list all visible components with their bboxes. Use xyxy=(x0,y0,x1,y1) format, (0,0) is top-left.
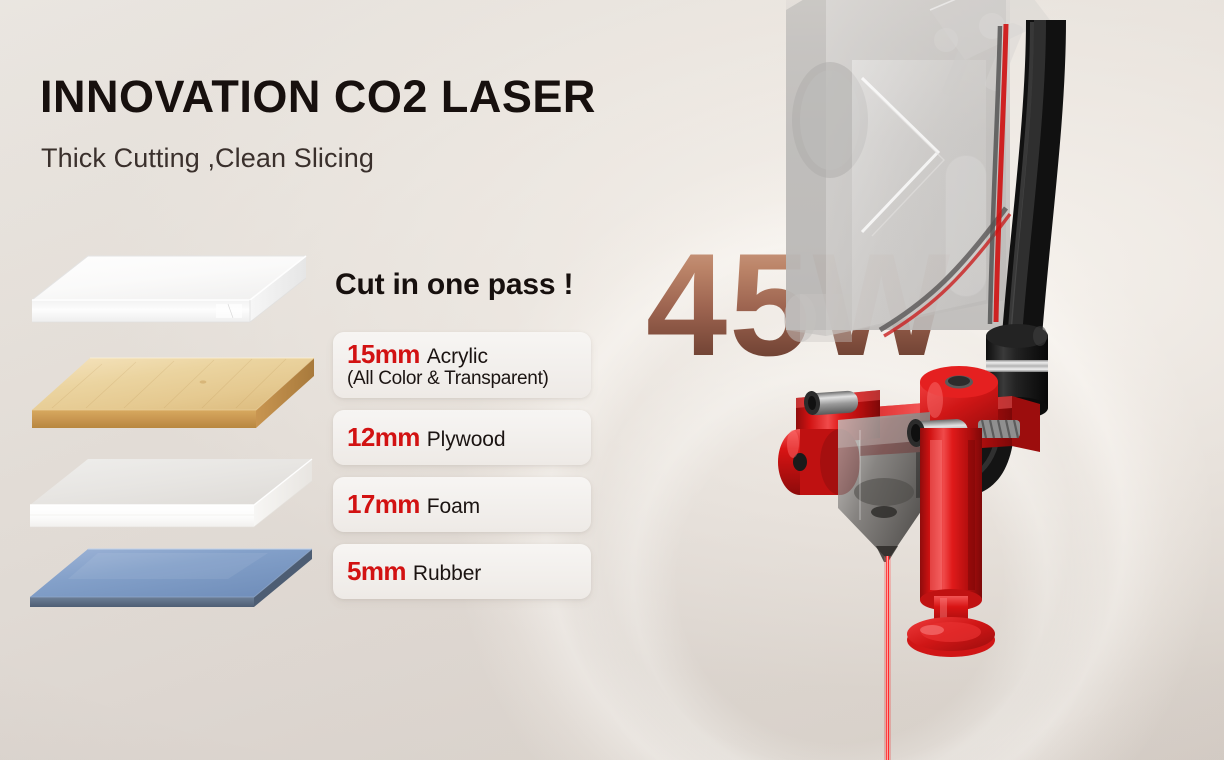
specs-heading: Cut in one pass ! xyxy=(335,268,573,302)
spec-material: Foam xyxy=(427,495,480,518)
spec-card-acrylic[interactable]: 15mmAcrylic (All Color & Transparent) xyxy=(333,332,591,398)
spec-note: (All Color & Transparent) xyxy=(347,368,577,389)
product-banner: 45W xyxy=(0,0,1224,760)
spec-material: Acrylic xyxy=(427,345,488,368)
spec-material: Plywood xyxy=(427,428,506,451)
spec-thickness: 12mm xyxy=(347,422,420,452)
spec-card-foam[interactable]: 17mmFoam xyxy=(333,477,591,532)
spec-thickness: 5mm xyxy=(347,556,406,586)
spec-card-list: 15mmAcrylic (All Color & Transparent) 12… xyxy=(333,332,591,611)
spec-card-plywood[interactable]: 12mmPlywood xyxy=(333,410,591,465)
spec-material: Rubber xyxy=(413,562,481,585)
spec-thickness: 17mm xyxy=(347,489,420,519)
page-title: INNOVATION CO2 LASER xyxy=(40,73,596,120)
page-subtitle: Thick Cutting ,Clean Slicing xyxy=(41,143,374,174)
spec-thickness: 15mm xyxy=(347,339,420,369)
spec-card-rubber[interactable]: 5mmRubber xyxy=(333,544,591,599)
